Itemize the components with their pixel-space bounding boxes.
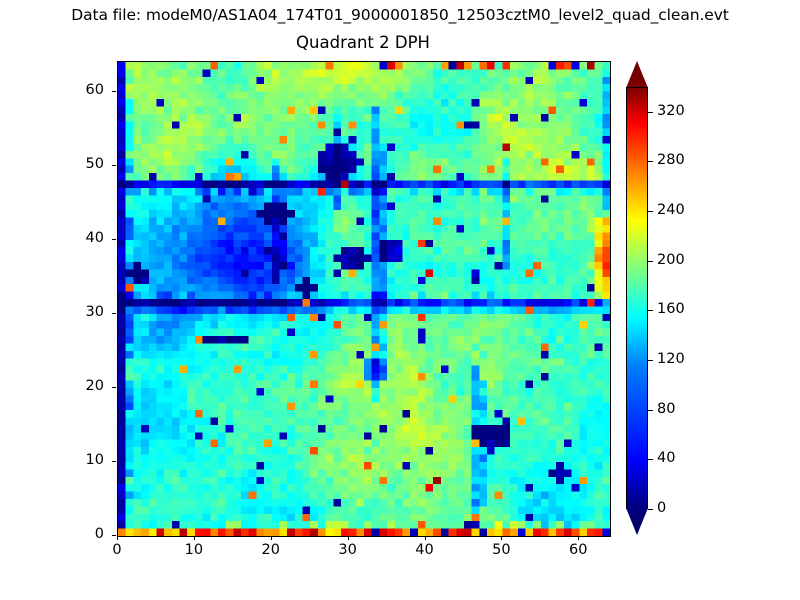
- colorbar-tick-label: 200: [657, 252, 685, 268]
- colorbar-tick-mark: [648, 112, 653, 113]
- colorbar-tick-mark: [648, 261, 653, 262]
- y-tick-label: 30: [64, 304, 104, 320]
- x-tick-mark: [348, 536, 349, 540]
- colorbar-tick-label: 160: [657, 301, 685, 317]
- y-tick-label: 50: [64, 156, 104, 172]
- colorbar-tick-label: 80: [657, 401, 675, 417]
- colorbar-over-arrow-icon: [626, 61, 648, 88]
- x-tick-mark: [271, 536, 272, 540]
- colorbar-tick-mark: [648, 310, 653, 311]
- figure-canvas: Data file: modeM0/AS1A04_174T01_90000018…: [0, 0, 800, 600]
- colorbar-gradient: [626, 87, 648, 509]
- x-tick-mark: [501, 536, 502, 540]
- x-tick-label: 40: [405, 542, 445, 558]
- x-tick-label: 0: [97, 542, 137, 558]
- colorbar-tick-mark: [648, 410, 653, 411]
- y-tick-mark: [112, 461, 116, 462]
- colorbar-tick-label: 240: [657, 202, 685, 218]
- y-tick-label: 60: [64, 82, 104, 98]
- x-tick-mark: [425, 536, 426, 540]
- x-tick-mark: [194, 536, 195, 540]
- y-tick-label: 20: [64, 378, 104, 394]
- y-tick-label: 0: [64, 526, 104, 542]
- x-tick-label: 30: [328, 542, 368, 558]
- y-tick-label: 10: [64, 452, 104, 468]
- colorbar-tick-mark: [648, 211, 653, 212]
- y-tick-mark: [112, 239, 116, 240]
- y-tick-mark: [112, 313, 116, 314]
- colorbar-tick-mark: [648, 459, 653, 460]
- x-tick-mark: [578, 536, 579, 540]
- colorbar-tick-label: 280: [657, 152, 685, 168]
- x-tick-mark: [117, 536, 118, 540]
- colorbar-tick-label: 40: [657, 450, 675, 466]
- colorbar-tick-label: 120: [657, 351, 685, 367]
- heatmap-axes[interactable]: [117, 61, 611, 537]
- colorbar-tick-mark: [648, 509, 653, 510]
- y-tick-mark: [112, 535, 116, 536]
- axes-title: Quadrant 2 DPH: [117, 33, 609, 52]
- x-tick-label: 50: [481, 542, 521, 558]
- heatmap-image[interactable]: [118, 62, 610, 536]
- colorbar-under-arrow-icon: [626, 508, 648, 535]
- y-tick-label: 40: [64, 230, 104, 246]
- colorbar-tick-mark: [648, 360, 653, 361]
- x-tick-label: 10: [174, 542, 214, 558]
- x-tick-label: 60: [558, 542, 598, 558]
- y-tick-mark: [112, 387, 116, 388]
- y-tick-mark: [112, 91, 116, 92]
- colorbar[interactable]: [626, 61, 648, 535]
- colorbar-tick-label: 320: [657, 103, 685, 119]
- figure-suptitle: Data file: modeM0/AS1A04_174T01_90000018…: [0, 6, 800, 24]
- colorbar-tick-label: 0: [657, 500, 666, 516]
- colorbar-tick-mark: [648, 161, 653, 162]
- y-tick-mark: [112, 165, 116, 166]
- x-tick-label: 20: [251, 542, 291, 558]
